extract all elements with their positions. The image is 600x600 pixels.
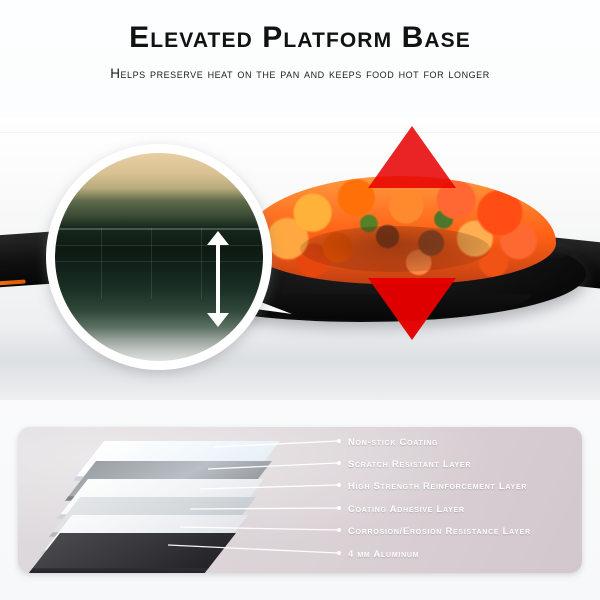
layer-label-high-strength: High Strength Reinforcement Layer xyxy=(348,480,527,491)
page-title: Elevated Platform Base xyxy=(0,21,600,55)
base-vertical-line xyxy=(201,228,202,299)
layer-structure-card: Non-stick Coating Scratch Resistant Laye… xyxy=(18,427,582,573)
arrow-shaft xyxy=(216,242,220,316)
magnifier-circle xyxy=(46,144,272,370)
arrow-head-down-icon xyxy=(207,313,229,327)
red-triangle-marker-up xyxy=(368,126,456,188)
layer-label-corrosion-resistance: Corrosion/Erosion Resistance Layer xyxy=(348,525,531,536)
layer-label-scratch-resistant: Scratch Resistant Layer xyxy=(348,458,471,469)
layer-label-coating-adhesive: Coating Adhesive Layer xyxy=(348,503,465,514)
infographic-page: Elevated Platform Base Helps preserve he… xyxy=(0,0,600,600)
page-subtitle: Helps preserve heat on the pan and keeps… xyxy=(0,66,600,82)
handle-accent-stripe xyxy=(0,279,26,285)
base-groove-line xyxy=(55,261,263,262)
product-photo-section xyxy=(0,118,600,400)
backdrop-seam xyxy=(0,132,600,133)
height-indicator-double-arrow xyxy=(207,231,229,327)
header-section: Elevated Platform Base Helps preserve he… xyxy=(0,0,600,118)
red-triangle-marker-down xyxy=(368,278,456,340)
layer-label-aluminum: 4 mm Aluminum xyxy=(348,548,419,559)
food-shadow xyxy=(300,226,490,272)
base-groove-line xyxy=(55,245,263,246)
magnified-base-detail xyxy=(55,153,263,361)
layer-label-non-stick-coating: Non-stick Coating xyxy=(348,436,438,447)
base-vertical-line xyxy=(101,228,102,299)
base-edge-seam xyxy=(55,228,263,230)
layer-label-list: Non-stick Coating Scratch Resistant Laye… xyxy=(18,427,582,573)
base-vertical-line xyxy=(151,228,152,299)
